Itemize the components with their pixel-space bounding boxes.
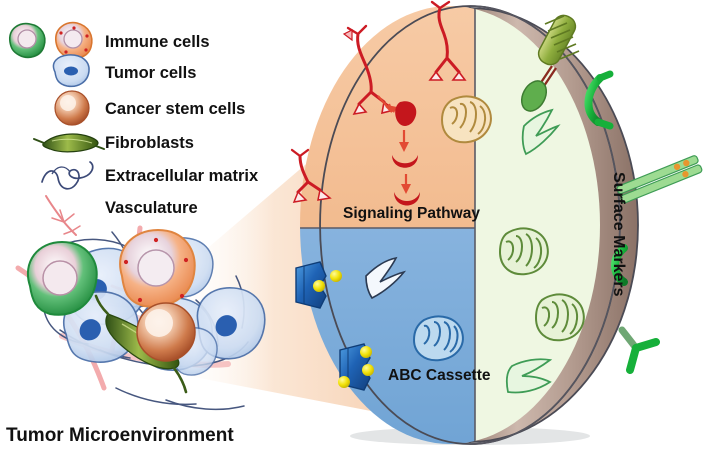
vasculature-icon: [46, 196, 80, 235]
magnified-cell: Signaling Pathway: [292, 0, 703, 450]
mitochondrion-green-1: [500, 228, 548, 274]
legend-label-cancer-stem-cells: Cancer stem cells: [105, 100, 245, 118]
legend-label-immune-cells: Immune cells: [105, 33, 210, 51]
legend: Immune cells Tumor cells Cancer stem cel…: [10, 23, 259, 235]
cancer-stem-cell-icon: [55, 91, 89, 125]
legend-label-fibroblasts: Fibroblasts: [105, 134, 194, 152]
legend-label-vasculature: Vasculature: [105, 199, 198, 217]
tumor-microenvironment-caption: Tumor Microenvironment: [6, 425, 234, 446]
legend-row-immune-cells: Immune cells: [10, 23, 210, 59]
mitochondrion-green-2: [536, 294, 584, 340]
tme-cancer-stem-cell: [137, 303, 195, 361]
label-surface-markers: Surface Markers: [610, 172, 627, 297]
legend-row-tumor-cells: Tumor cells: [53, 55, 196, 86]
tumor-cell-icon: [53, 55, 89, 86]
label-signaling-pathway: Signaling Pathway: [343, 205, 480, 222]
label-abc-cassette: ABC Cassette: [388, 367, 491, 384]
legend-row-cancer-stem-cells: Cancer stem cells: [55, 91, 245, 125]
fibroblast-icon: [34, 134, 104, 152]
extracellular-matrix-icon: [42, 162, 93, 189]
immune-cells-icon: [10, 23, 92, 59]
legend-row-vasculature: Vasculature: [46, 196, 198, 235]
tme-immune-cell-green: [28, 242, 97, 315]
figure-canvas: Immune cells Tumor cells Cancer stem cel…: [0, 0, 718, 450]
legend-label-extracellular-matrix: Extracellular matrix: [105, 167, 259, 185]
legend-row-fibroblasts: Fibroblasts: [34, 134, 194, 152]
mitochondrion-gold: [442, 96, 491, 142]
surface-marker-antibody: [622, 330, 656, 370]
mitochondrion-blue: [414, 316, 463, 360]
legend-row-extracellular-matrix: Extracellular matrix: [42, 162, 259, 189]
tme-immune-cell-orange: [120, 230, 195, 307]
legend-label-tumor-cells: Tumor cells: [105, 64, 196, 82]
